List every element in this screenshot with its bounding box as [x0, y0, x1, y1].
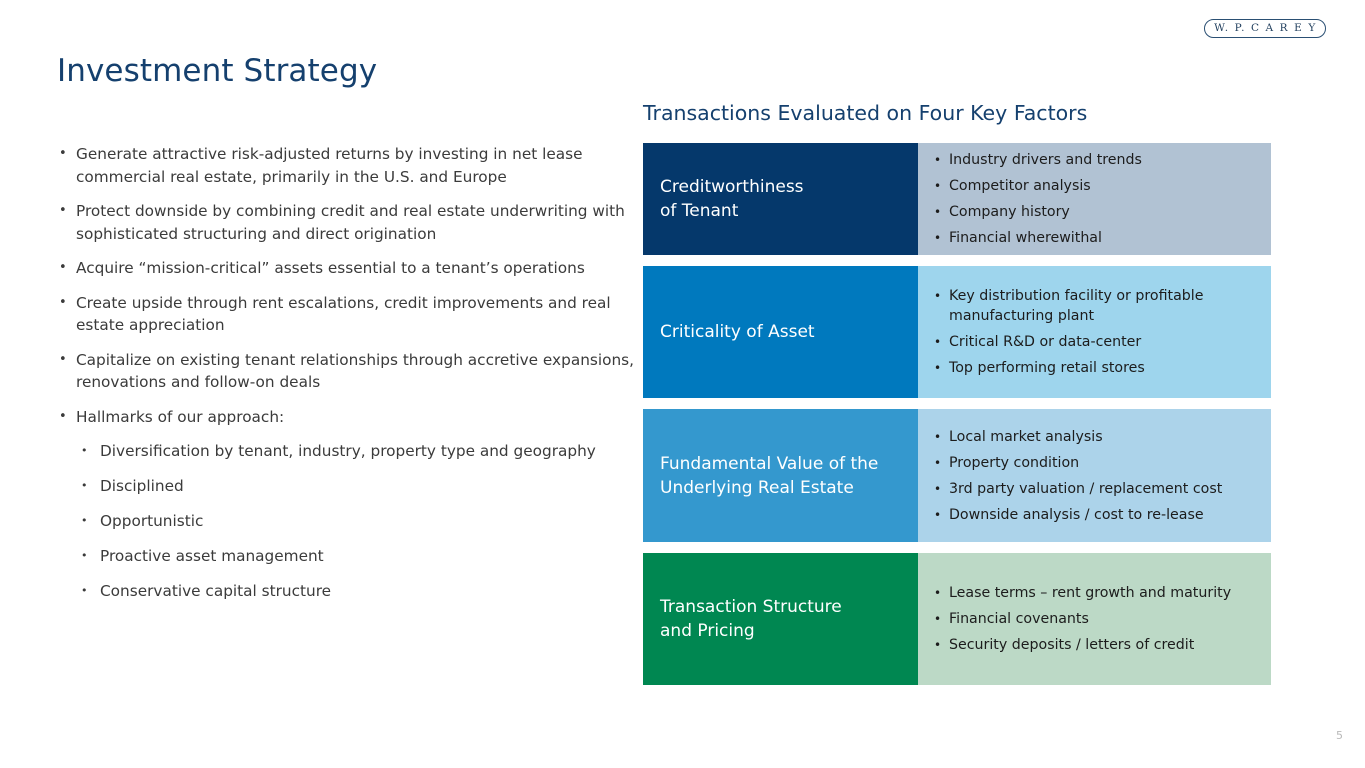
bullet-dot-icon: • — [81, 510, 88, 533]
hallmark-bullet-text: Opportunistic — [100, 512, 203, 530]
factor-row[interactable]: Transaction Structureand Pricing•Lease t… — [643, 553, 1271, 685]
bullet-dot-icon: • — [934, 286, 941, 306]
hallmark-bullet: •Proactive asset management — [78, 545, 636, 568]
bullet-dot-icon: • — [934, 150, 941, 170]
factor-item-text: 3rd party valuation / replacement cost — [949, 481, 1222, 497]
factor-row[interactable]: Fundamental Value of theUnderlying Real … — [643, 409, 1271, 542]
hallmark-bullet: •Disciplined — [78, 475, 636, 498]
bullet-dot-icon: • — [81, 580, 88, 603]
factor-item-text: Local market analysis — [949, 429, 1103, 445]
key-factors-matrix: Creditworthinessof Tenant•Industry drive… — [643, 143, 1271, 696]
bullet-dot-icon: • — [934, 453, 941, 473]
strategy-bullet: •Capitalize on existing tenant relations… — [56, 349, 636, 394]
bullet-dot-icon: • — [934, 358, 941, 378]
bullet-dot-icon: • — [59, 257, 67, 280]
strategy-bullet: •Hallmarks of our approach: — [56, 406, 636, 429]
bullet-dot-icon: • — [59, 200, 67, 223]
bullet-dot-icon: • — [934, 583, 941, 603]
bullet-dot-icon: • — [934, 176, 941, 196]
factor-item: •Security deposits / letters of credit — [918, 635, 1259, 655]
bullet-dot-icon: • — [81, 475, 88, 498]
strategy-bullet-text: Hallmarks of our approach: — [76, 408, 284, 426]
factor-label: Transaction Structureand Pricing — [643, 553, 918, 685]
strategy-bullet: •Create upside through rent escalations,… — [56, 292, 636, 337]
factor-label-line: Transaction Structure — [660, 595, 842, 619]
factor-item-text: Financial wherewithal — [949, 230, 1102, 246]
factor-item: •Financial wherewithal — [918, 228, 1259, 248]
hallmark-bullet-text: Proactive asset management — [100, 547, 324, 565]
hallmark-bullet: •Diversification by tenant, industry, pr… — [78, 440, 636, 463]
factor-item-text: Critical R&D or data-center — [949, 334, 1141, 350]
factor-item-list: •Local market analysis•Property conditio… — [918, 409, 1271, 542]
factor-item-list: •Industry drivers and trends•Competitor … — [918, 143, 1271, 255]
factor-label: Fundamental Value of theUnderlying Real … — [643, 409, 918, 542]
bullet-dot-icon: • — [934, 505, 941, 525]
strategy-bullet: •Generate attractive risk-adjusted retur… — [56, 143, 636, 188]
factor-item: •Financial covenants — [918, 609, 1259, 629]
bullet-dot-icon: • — [934, 479, 941, 499]
strategy-bullet-text: Generate attractive risk-adjusted return… — [76, 145, 583, 186]
bullet-dot-icon: • — [934, 609, 941, 629]
factor-item: •Critical R&D or data-center — [918, 332, 1259, 352]
strategy-bullet-text: Protect downside by combining credit and… — [76, 202, 625, 243]
factor-item: •Key distribution facility or profitable… — [918, 286, 1259, 326]
factor-item-text: Competitor analysis — [949, 178, 1091, 194]
wp-carey-logo: W. P. C A R E Y — [1204, 19, 1326, 38]
factor-label-line: Underlying Real Estate — [660, 476, 878, 500]
bullet-dot-icon: • — [81, 545, 88, 568]
factor-item: •Downside analysis / cost to re-lease — [918, 505, 1259, 525]
factor-label: Criticality of Asset — [643, 266, 918, 398]
bullet-dot-icon: • — [81, 440, 88, 463]
factor-item: •Property condition — [918, 453, 1259, 473]
factor-item-text: Top performing retail stores — [949, 360, 1145, 376]
factor-item: •Lease terms – rent growth and maturity — [918, 583, 1259, 603]
factor-item: •Local market analysis — [918, 427, 1259, 447]
strategy-bullet-text: Capitalize on existing tenant relationsh… — [76, 351, 634, 392]
factor-item: •3rd party valuation / replacement cost — [918, 479, 1259, 499]
hallmark-bullet-text: Conservative capital structure — [100, 582, 331, 600]
factor-label-line: Fundamental Value of the — [660, 452, 878, 476]
factor-item-text: Company history — [949, 204, 1070, 220]
factor-item-text: Property condition — [949, 455, 1079, 471]
bullet-dot-icon: • — [59, 349, 67, 372]
bullet-dot-icon: • — [934, 332, 941, 352]
bullet-dot-icon: • — [59, 406, 67, 429]
factor-item-text: Security deposits / letters of credit — [949, 637, 1194, 653]
factor-item: •Industry drivers and trends — [918, 150, 1259, 170]
factor-item: •Competitor analysis — [918, 176, 1259, 196]
page-title: Investment Strategy — [57, 53, 377, 89]
strategy-bullet-text: Create upside through rent escalations, … — [76, 294, 611, 335]
factor-item-list: •Key distribution facility or profitable… — [918, 266, 1271, 398]
hallmarks-sub-list: •Diversification by tenant, industry, pr… — [56, 440, 636, 603]
strategy-bullet-text: Acquire “mission-critical” assets essent… — [76, 259, 585, 277]
factor-label-line: and Pricing — [660, 619, 842, 643]
strategy-bullet: •Protect downside by combining credit an… — [56, 200, 636, 245]
key-factors-heading: Transactions Evaluated on Four Key Facto… — [643, 101, 1087, 125]
factor-item: •Company history — [918, 202, 1259, 222]
page-number: 5 — [1336, 729, 1343, 742]
hallmark-bullet-text: Disciplined — [100, 477, 184, 495]
strategy-bullet: •Acquire “mission-critical” assets essen… — [56, 257, 636, 280]
factor-item: •Top performing retail stores — [918, 358, 1259, 378]
factor-item-text: Lease terms – rent growth and maturity — [949, 585, 1231, 601]
factor-label-line: of Tenant — [660, 199, 804, 223]
hallmark-bullet: •Opportunistic — [78, 510, 636, 533]
factor-row[interactable]: Criticality of Asset•Key distribution fa… — [643, 266, 1271, 398]
factor-label: Creditworthinessof Tenant — [643, 143, 918, 255]
factor-item-text: Industry drivers and trends — [949, 152, 1142, 168]
strategy-bullet-list: •Generate attractive risk-adjusted retur… — [56, 143, 636, 615]
factor-item-text: Downside analysis / cost to re-lease — [949, 507, 1204, 523]
bullet-dot-icon: • — [934, 202, 941, 222]
factor-label-line: Criticality of Asset — [660, 320, 815, 344]
factor-label-line: Creditworthiness — [660, 175, 804, 199]
bullet-dot-icon: • — [934, 228, 941, 248]
factor-item-text: Key distribution facility or profitable … — [949, 288, 1203, 324]
factor-row[interactable]: Creditworthinessof Tenant•Industry drive… — [643, 143, 1271, 255]
slide-root: W. P. C A R E Y Investment Strategy •Gen… — [0, 0, 1365, 768]
bullet-dot-icon: • — [934, 635, 941, 655]
hallmark-bullet-text: Diversification by tenant, industry, pro… — [100, 442, 596, 460]
hallmark-bullet: •Conservative capital structure — [78, 580, 636, 603]
bullet-dot-icon: • — [59, 292, 67, 315]
bullet-dot-icon: • — [934, 427, 941, 447]
bullet-dot-icon: • — [59, 143, 67, 166]
factor-item-list: •Lease terms – rent growth and maturity•… — [918, 553, 1271, 685]
factor-item-text: Financial covenants — [949, 611, 1089, 627]
logo-text: W. P. C A R E Y — [1213, 23, 1317, 34]
